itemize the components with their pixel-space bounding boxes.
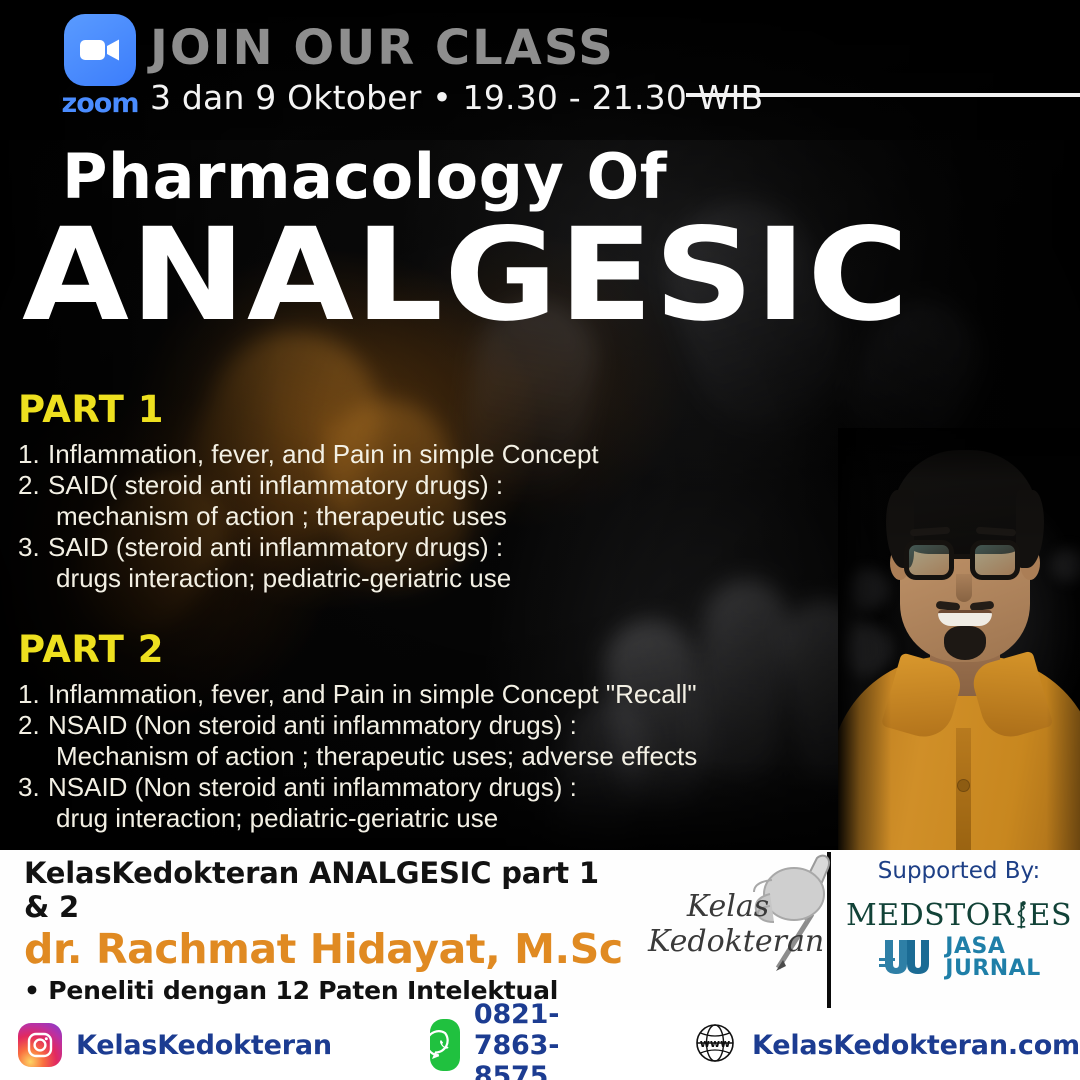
list-item-line1: Inflammation, fever, and Pain in simple … <box>48 439 599 469</box>
whatsapp-icon[interactable] <box>430 1019 460 1071</box>
header: zoom JOIN OUR CLASS 3 dan 9 Oktober • 19… <box>0 0 1080 130</box>
list-item: 3. SAID (steroid anti inflammatory drugs… <box>18 532 599 593</box>
header-divider-rule <box>686 93 1080 97</box>
part-2-block: PART 2 1. Inflammation, fever, and Pain … <box>18 628 697 834</box>
list-item-number: 1. <box>18 439 48 469</box>
list-item-text: Inflammation, fever, and Pain in simple … <box>48 679 697 709</box>
whatsapp-number: 0821-7863-8575 <box>474 999 614 1080</box>
instagram-handle: KelasKedokteran <box>76 1030 332 1061</box>
list-item-text: SAID( steroid anti inflammatory drugs) :… <box>48 470 599 531</box>
class-title: KelasKedokteran ANALGESIC part 1 & 2 <box>24 856 624 924</box>
footer-contact-bar: KelasKedokteran 0821-7863-8575 www <box>0 1010 1080 1080</box>
zoom-video-icon <box>64 14 136 86</box>
list-item: 2. SAID( steroid anti inflammatory drugs… <box>18 470 599 531</box>
list-item-number: 2. <box>18 470 48 531</box>
svg-text:www: www <box>700 1037 731 1050</box>
part-1-block: PART 1 1. Inflammation, fever, and Pain … <box>18 388 599 594</box>
glasses-lens-right-icon <box>970 540 1020 580</box>
list-item-line2: drug interaction; pediatric-geriatric us… <box>48 803 697 833</box>
list-item-line2: drugs interaction; pediatric-geriatric u… <box>48 563 599 593</box>
medstories-logo[interactable]: MEDSTOR ES <box>846 896 1072 934</box>
medstories-text-pre: MEDSTOR <box>846 898 1014 933</box>
brand-logo-line1: Kelas <box>648 890 808 925</box>
photo-beard <box>944 626 986 660</box>
photo-shirt-button <box>958 780 969 791</box>
caduceus-icon <box>1015 896 1028 934</box>
list-item-text: NSAID (Non steroid anti inflammatory dru… <box>48 710 697 771</box>
brand-logo-line2: Kedokteran <box>648 925 808 960</box>
website-url: KelasKedokteran.com <box>752 1030 1080 1061</box>
zoom-wordmark: zoom <box>52 88 148 119</box>
photo-nose <box>956 574 972 602</box>
list-item-line1: NSAID (Non steroid anti inflammatory dru… <box>48 772 577 802</box>
jasa-jurnal-text: JASA JURNAL <box>945 936 1040 980</box>
contact-instagram[interactable]: KelasKedokteran <box>18 1023 332 1067</box>
photo-shirt-placket <box>956 728 971 860</box>
contact-website[interactable]: www KelasKedokteran.com <box>692 1020 1080 1071</box>
brand-logo-script: Kelas Kedokteran <box>648 890 808 960</box>
list-item-line2: mechanism of action ; therapeutic uses <box>48 501 599 531</box>
list-item-number: 3. <box>18 772 48 833</box>
list-item: 3. NSAID (Non steroid anti inflammatory … <box>18 772 697 833</box>
list-item: 2. NSAID (Non steroid anti inflammatory … <box>18 710 697 771</box>
speaker-photo <box>838 428 1080 860</box>
contact-whatsapp[interactable]: 0821-7863-8575 <box>430 999 614 1080</box>
photo-smile <box>938 610 992 626</box>
glasses-lens-left-icon <box>904 540 954 580</box>
jasa-jurnal-mark-icon <box>877 936 939 980</box>
list-item-line2: Mechanism of action ; therapeutic uses; … <box>48 741 697 771</box>
page-title: ANALGESIC <box>22 212 910 340</box>
list-item-number: 3. <box>18 532 48 593</box>
instagram-icon[interactable] <box>18 1023 62 1067</box>
jasa-line1: JASA <box>945 936 1040 958</box>
globe-www-icon[interactable]: www <box>692 1020 738 1071</box>
zoom-logo: zoom <box>52 14 148 119</box>
part-2-heading: PART 2 <box>18 628 697 671</box>
supported-by: Supported By: MEDSTOR ES JASA JURNAL <box>846 858 1072 980</box>
speaker-name: dr. Rachmat Hidayat, M.Sc <box>24 925 624 973</box>
join-class-title: JOIN OUR CLASS <box>150 20 615 76</box>
list-item-line1: SAID (steroid anti inflammatory drugs) : <box>48 532 503 562</box>
part-1-list: 1. Inflammation, fever, and Pain in simp… <box>18 439 599 593</box>
jasa-jurnal-logo[interactable]: JASA JURNAL <box>846 936 1072 980</box>
part-2-list: 1. Inflammation, fever, and Pain in simp… <box>18 679 697 833</box>
part-1-heading: PART 1 <box>18 388 599 431</box>
brand-logo: Kelas Kedokteran <box>648 854 828 1006</box>
list-item-number: 2. <box>18 710 48 771</box>
list-item-line1: SAID( steroid anti inflammatory drugs) : <box>48 470 503 500</box>
list-item: 1. Inflammation, fever, and Pain in simp… <box>18 679 697 709</box>
medstories-text-post: ES <box>1029 898 1072 933</box>
glasses-bridge-icon <box>954 554 972 559</box>
jasa-line2: JURNAL <box>945 958 1040 980</box>
list-item-line1: NSAID (Non steroid anti inflammatory dru… <box>48 710 577 740</box>
list-item-number: 1. <box>18 679 48 709</box>
list-item-text: NSAID (Non steroid anti inflammatory dru… <box>48 772 697 833</box>
list-item-line1: Inflammation, fever, and Pain in simple … <box>48 679 697 709</box>
photo-bokeh <box>846 568 888 610</box>
list-item-text: SAID (steroid anti inflammatory drugs) :… <box>48 532 599 593</box>
supported-by-label: Supported By: <box>846 858 1072 884</box>
list-item: 1. Inflammation, fever, and Pain in simp… <box>18 439 599 469</box>
photo-bokeh <box>840 624 892 676</box>
poster-canvas: zoom JOIN OUR CLASS 3 dan 9 Oktober • 19… <box>0 0 1080 1080</box>
list-item-text: Inflammation, fever, and Pain in simple … <box>48 439 599 469</box>
schedule-text: 3 dan 9 Oktober • 19.30 - 21.30 WIB <box>150 78 763 117</box>
photo-bokeh <box>1052 548 1080 582</box>
